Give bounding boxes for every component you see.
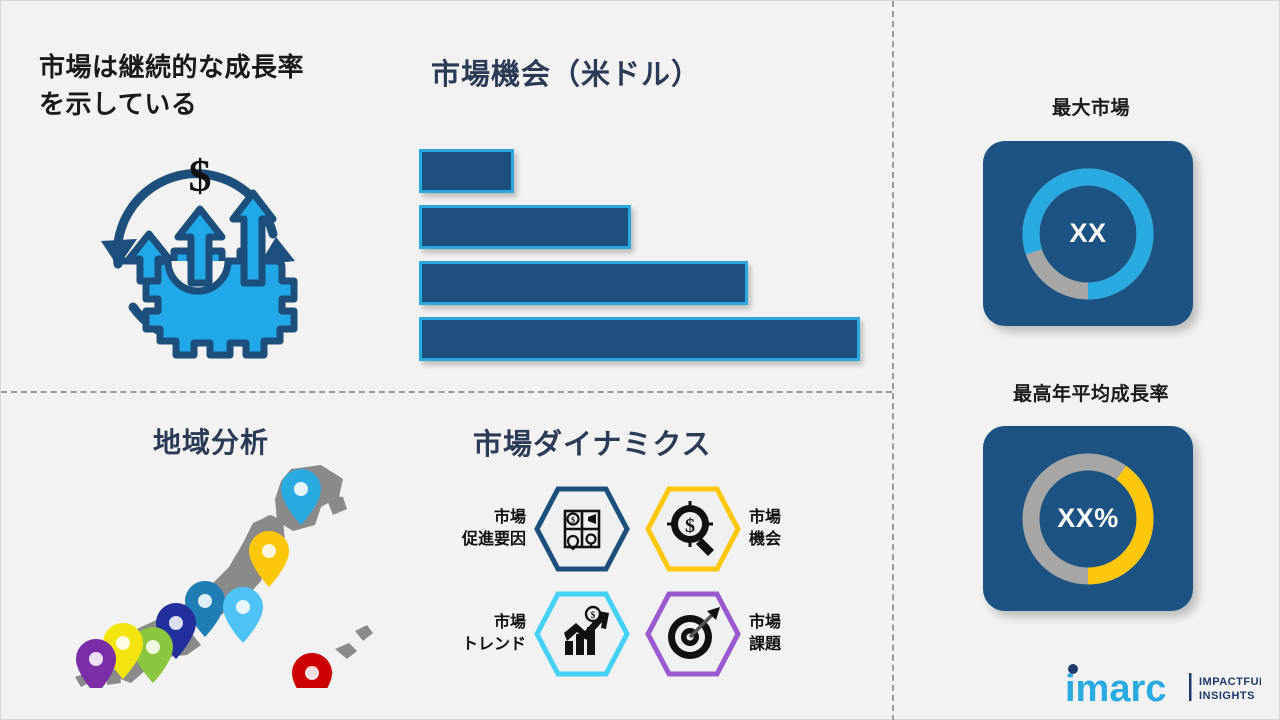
highest-cagr-value: XX% [983,426,1193,611]
svg-text:$: $ [685,515,695,537]
vertical-divider [892,1,894,720]
logo-tagline-2: INSIGHTS [1199,690,1255,702]
growth-title: 市場は継続的な成長率 を示している [39,49,389,123]
svg-text:$: $ [189,150,212,201]
bar-2 [419,205,631,249]
market-opportunity-bar-chart [419,147,879,357]
dynamics-item-opportunities[interactable]: $ 市場 機会 [645,481,870,576]
largest-market-value: XX [983,141,1193,326]
dynamics-label-drivers: 市場 促進要因 [462,507,534,550]
svg-text:$: $ [571,515,575,524]
dynamics-item-trends[interactable]: 市場 トレンド $ [405,586,630,681]
infographic-slide: 市場は継続的な成長率 を示している $ [0,0,1280,720]
dynamics-item-challenges[interactable]: 市場 課題 [645,586,870,681]
imarc-logo: imarc IMPACTFUL INSIGHTS [1061,661,1261,707]
dynamics-label-trends: 市場 トレンド [462,612,534,655]
puzzle-pieces-icon: $ [534,486,630,572]
largest-market-donut-card: XX [983,141,1193,326]
logo-tagline-1: IMPACTFUL [1199,676,1261,688]
bar-row [419,149,879,193]
market-dynamics-grid: 市場 促進要因 $ [405,481,875,681]
horizontal-divider [1,391,892,393]
svg-text:$: $ [591,610,596,620]
regional-title: 地域分析 [153,421,269,461]
logo-wordmark: imarc [1065,668,1166,707]
highest-cagr-donut-card: XX% [983,426,1193,611]
japan-map [63,463,383,688]
dynamics-label-opportunities: 市場 機会 [741,507,781,550]
magnifier-dollar-icon: $ [645,486,741,572]
bar-row [419,261,879,305]
map-pin-group [76,469,332,688]
growth-gear-arrows-icon: $ [73,129,323,369]
target-arrow-icon [645,591,741,677]
largest-market-title: 最大市場 [941,93,1241,120]
growth-bars-icon: $ [534,591,630,677]
highest-cagr-title: 最高年平均成長率 [941,379,1241,406]
dynamics-item-drivers[interactable]: 市場 促進要因 $ [405,481,630,576]
bar-1 [419,149,514,193]
dynamics-title: 市場ダイナミクス [473,421,712,463]
bar-3 [419,261,748,305]
bar-4 [419,317,860,361]
bar-row [419,317,879,361]
dynamics-label-challenges: 市場 課題 [741,612,781,655]
opportunity-title: 市場機会（米ドル） [431,51,831,93]
bar-row [419,205,879,249]
